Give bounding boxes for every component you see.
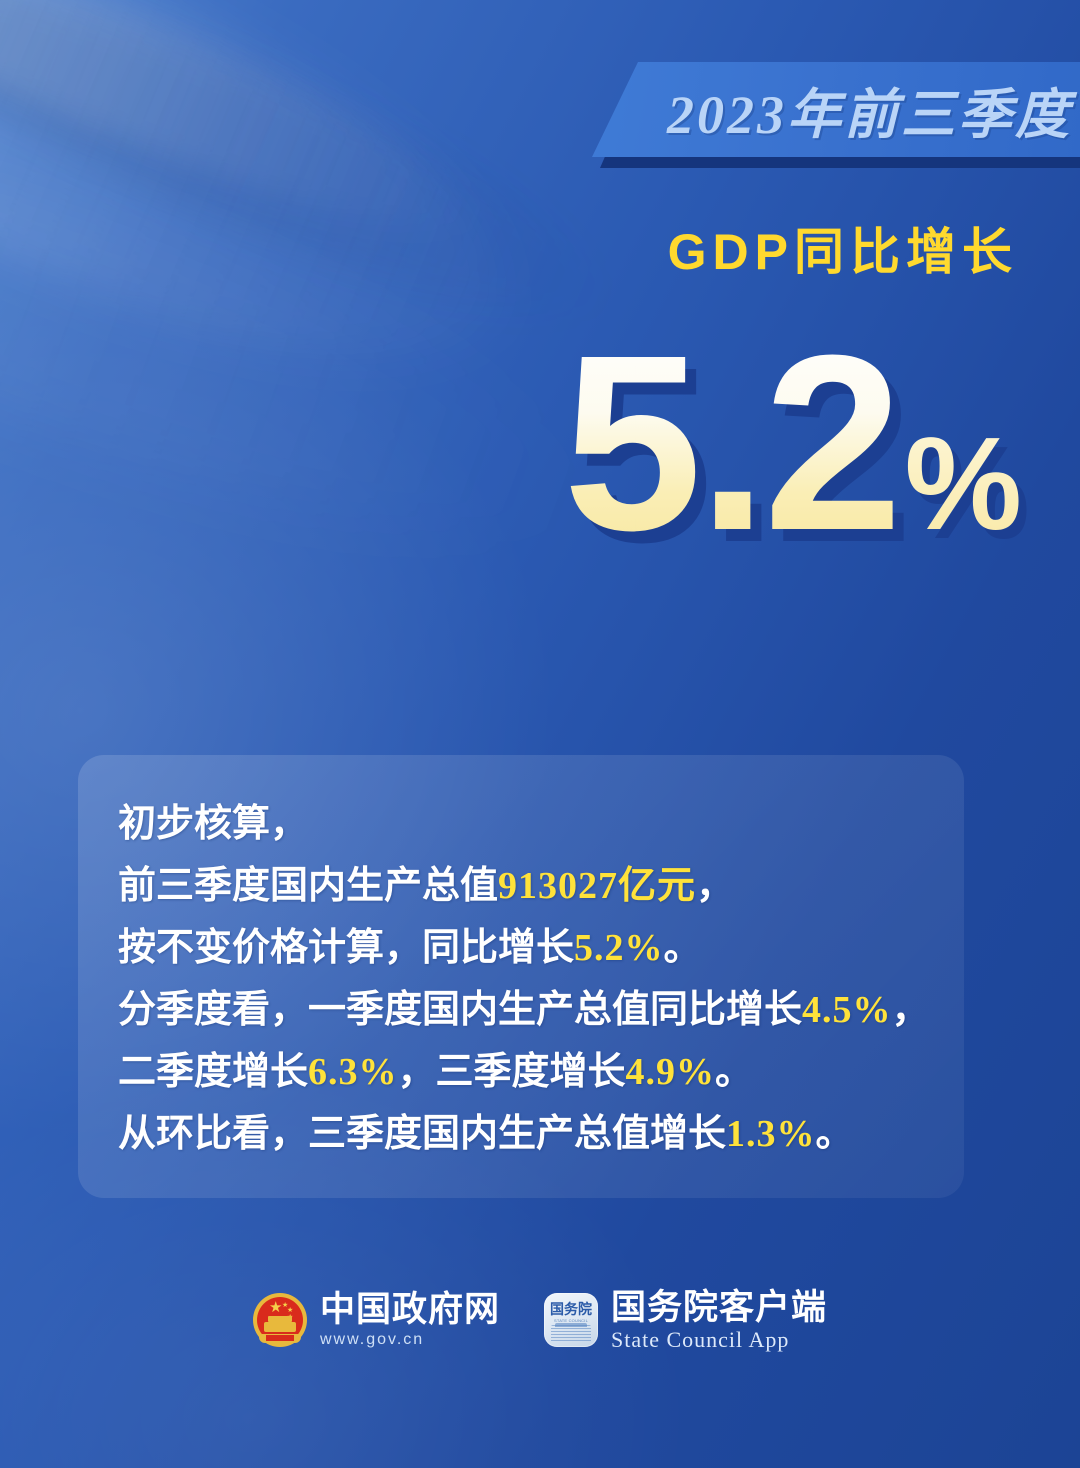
- infographic-poster: 2023年前三季度 GDP同比增长 5.2 % 初步核算，前三季度国内生产总值9…: [0, 0, 1080, 1468]
- header-ribbon-fill: 2023年前三季度: [592, 62, 1080, 157]
- detail-text: 初步核算，: [118, 803, 308, 845]
- brand-state-council-app: 国务院 STATE COUNCIL 国务院客户端 State Council A…: [544, 1288, 827, 1352]
- hero-percent-symbol: %: [905, 418, 1022, 550]
- background-streak-c: [0, 60, 620, 609]
- highlighted-figure: 6.3%: [308, 1051, 398, 1093]
- detail-line: 按不变价格计算，同比增长5.2%。: [118, 917, 924, 979]
- app-icon-building-shape: [551, 1325, 591, 1343]
- background-streak-b: [0, 0, 505, 276]
- detail-text: 前三季度国内生产总值: [118, 865, 498, 907]
- header-period-label: 2023年前三季度: [667, 70, 1072, 149]
- header-ribbon: 2023年前三季度: [592, 62, 1080, 170]
- highlighted-figure: 913027亿元: [498, 865, 696, 907]
- brand-gov-cn-url: www.gov.cn: [320, 1330, 500, 1350]
- highlighted-figure: 4.5%: [802, 989, 892, 1031]
- background-streak-a: [0, 0, 562, 450]
- national-emblem-icon: ★ ★ ★ ★ ★: [253, 1293, 307, 1347]
- state-council-app-icon: 国务院 STATE COUNCIL: [544, 1293, 598, 1347]
- detail-text: 按不变价格计算，同比增长: [118, 927, 574, 969]
- detail-line: 初步核算，: [118, 793, 924, 855]
- detail-text: 从环比看，三季度国内生产总值增长: [118, 1113, 726, 1155]
- brand-state-council-name: 国务院客户端: [611, 1288, 827, 1328]
- highlighted-figure: 1.3%: [726, 1113, 816, 1155]
- detail-text: ，: [892, 989, 930, 1031]
- brand-state-council-en: State Council App: [611, 1328, 827, 1352]
- detail-line: 从环比看，三季度国内生产总值增长1.3%。: [118, 1103, 924, 1165]
- detail-text: 。: [816, 1113, 854, 1155]
- detail-text: 。: [664, 927, 702, 969]
- detail-line: 前三季度国内生产总值913027亿元，: [118, 855, 924, 917]
- detail-line: 分季度看，一季度国内生产总值同比增长4.5%，: [118, 979, 924, 1041]
- brand-gov-cn-text: 中国政府网 www.gov.cn: [320, 1290, 500, 1350]
- detail-text: 二季度增长: [118, 1051, 308, 1093]
- highlighted-figure: 5.2%: [574, 927, 664, 969]
- gdp-subtitle: GDP同比增长: [668, 212, 1018, 284]
- hero-metric: 5.2 %: [563, 318, 1022, 568]
- detail-text: ，: [696, 865, 734, 907]
- highlighted-figure: 4.9%: [626, 1051, 716, 1093]
- detail-text: 分季度看，一季度国内生产总值同比增长: [118, 989, 802, 1031]
- detail-line: 二季度增长6.3%，三季度增长4.9%。: [118, 1041, 924, 1103]
- brand-gov-cn: ★ ★ ★ ★ ★ 中国政府网 www.gov.cn: [253, 1290, 500, 1350]
- detail-text: 。: [715, 1051, 753, 1093]
- hero-value: 5.2: [563, 318, 899, 568]
- background-streak-dark: [0, 0, 635, 368]
- detail-card-lines: 初步核算，前三季度国内生产总值913027亿元，按不变价格计算，同比增长5.2%…: [118, 793, 924, 1165]
- brand-state-council-text: 国务院客户端 State Council App: [611, 1288, 827, 1352]
- footer-brands: ★ ★ ★ ★ ★ 中国政府网 www.gov.cn 国务院 STATE COU…: [0, 1288, 1080, 1352]
- brand-gov-cn-name: 中国政府网: [320, 1290, 500, 1330]
- detail-text: ，三季度增长: [398, 1051, 626, 1093]
- detail-card: 初步核算，前三季度国内生产总值913027亿元，按不变价格计算，同比增长5.2%…: [78, 755, 964, 1198]
- app-icon-cn-label: 国务院: [544, 1302, 598, 1316]
